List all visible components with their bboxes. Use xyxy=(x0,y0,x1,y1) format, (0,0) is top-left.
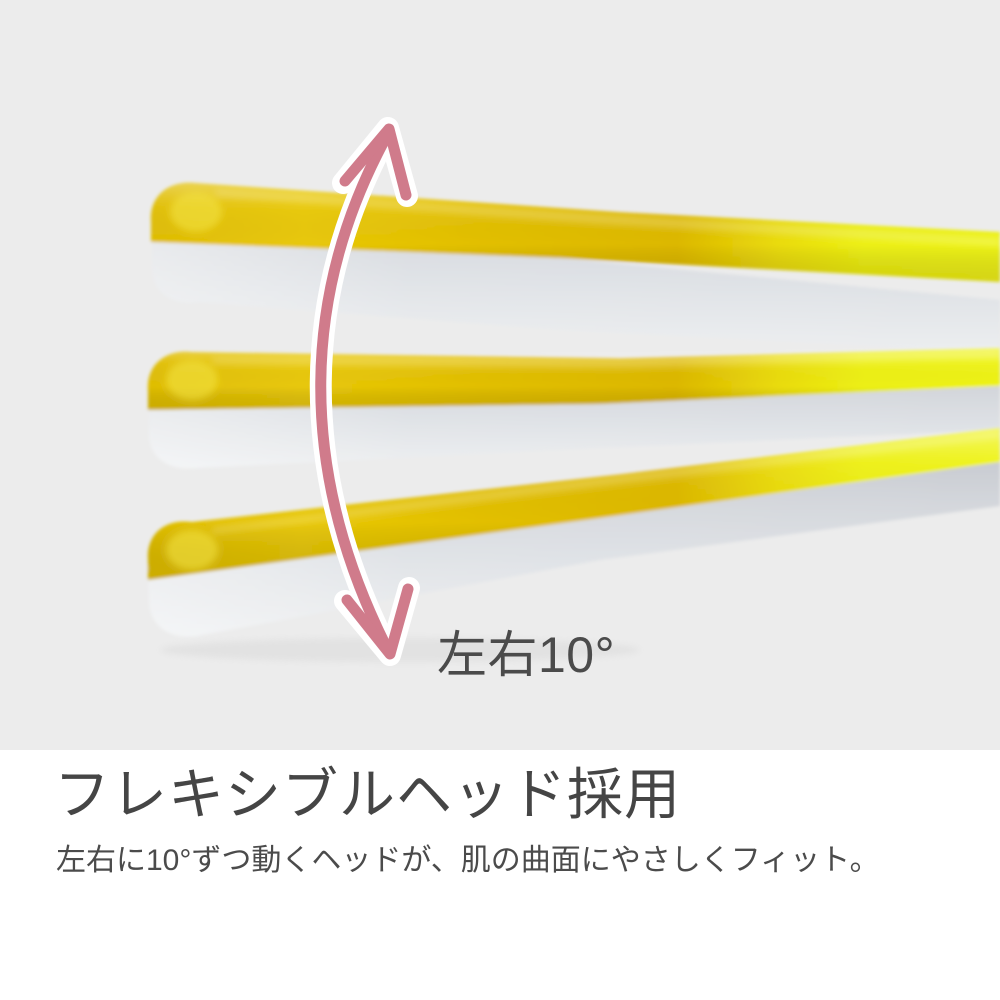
hero-image-area: 左右10° xyxy=(0,0,1000,750)
feature-title: フレキシブルヘッド採用 xyxy=(54,764,681,827)
product-feature-card: 左右10° フレキシブルヘッド採用 左右に10°ずつ動くヘッドが、肌の曲面にやさ… xyxy=(0,0,1000,1000)
caption-area: フレキシブルヘッド採用 左右に10°ずつ動くヘッドが、肌の曲面にやさしくフィット… xyxy=(0,750,1000,1000)
feature-subtitle: 左右に10°ずつ動くヘッドが、肌の曲面にやさしくフィット。 xyxy=(56,843,880,879)
angle-annotation-label: 左右10° xyxy=(437,630,615,680)
brush-head-top xyxy=(151,183,1000,352)
